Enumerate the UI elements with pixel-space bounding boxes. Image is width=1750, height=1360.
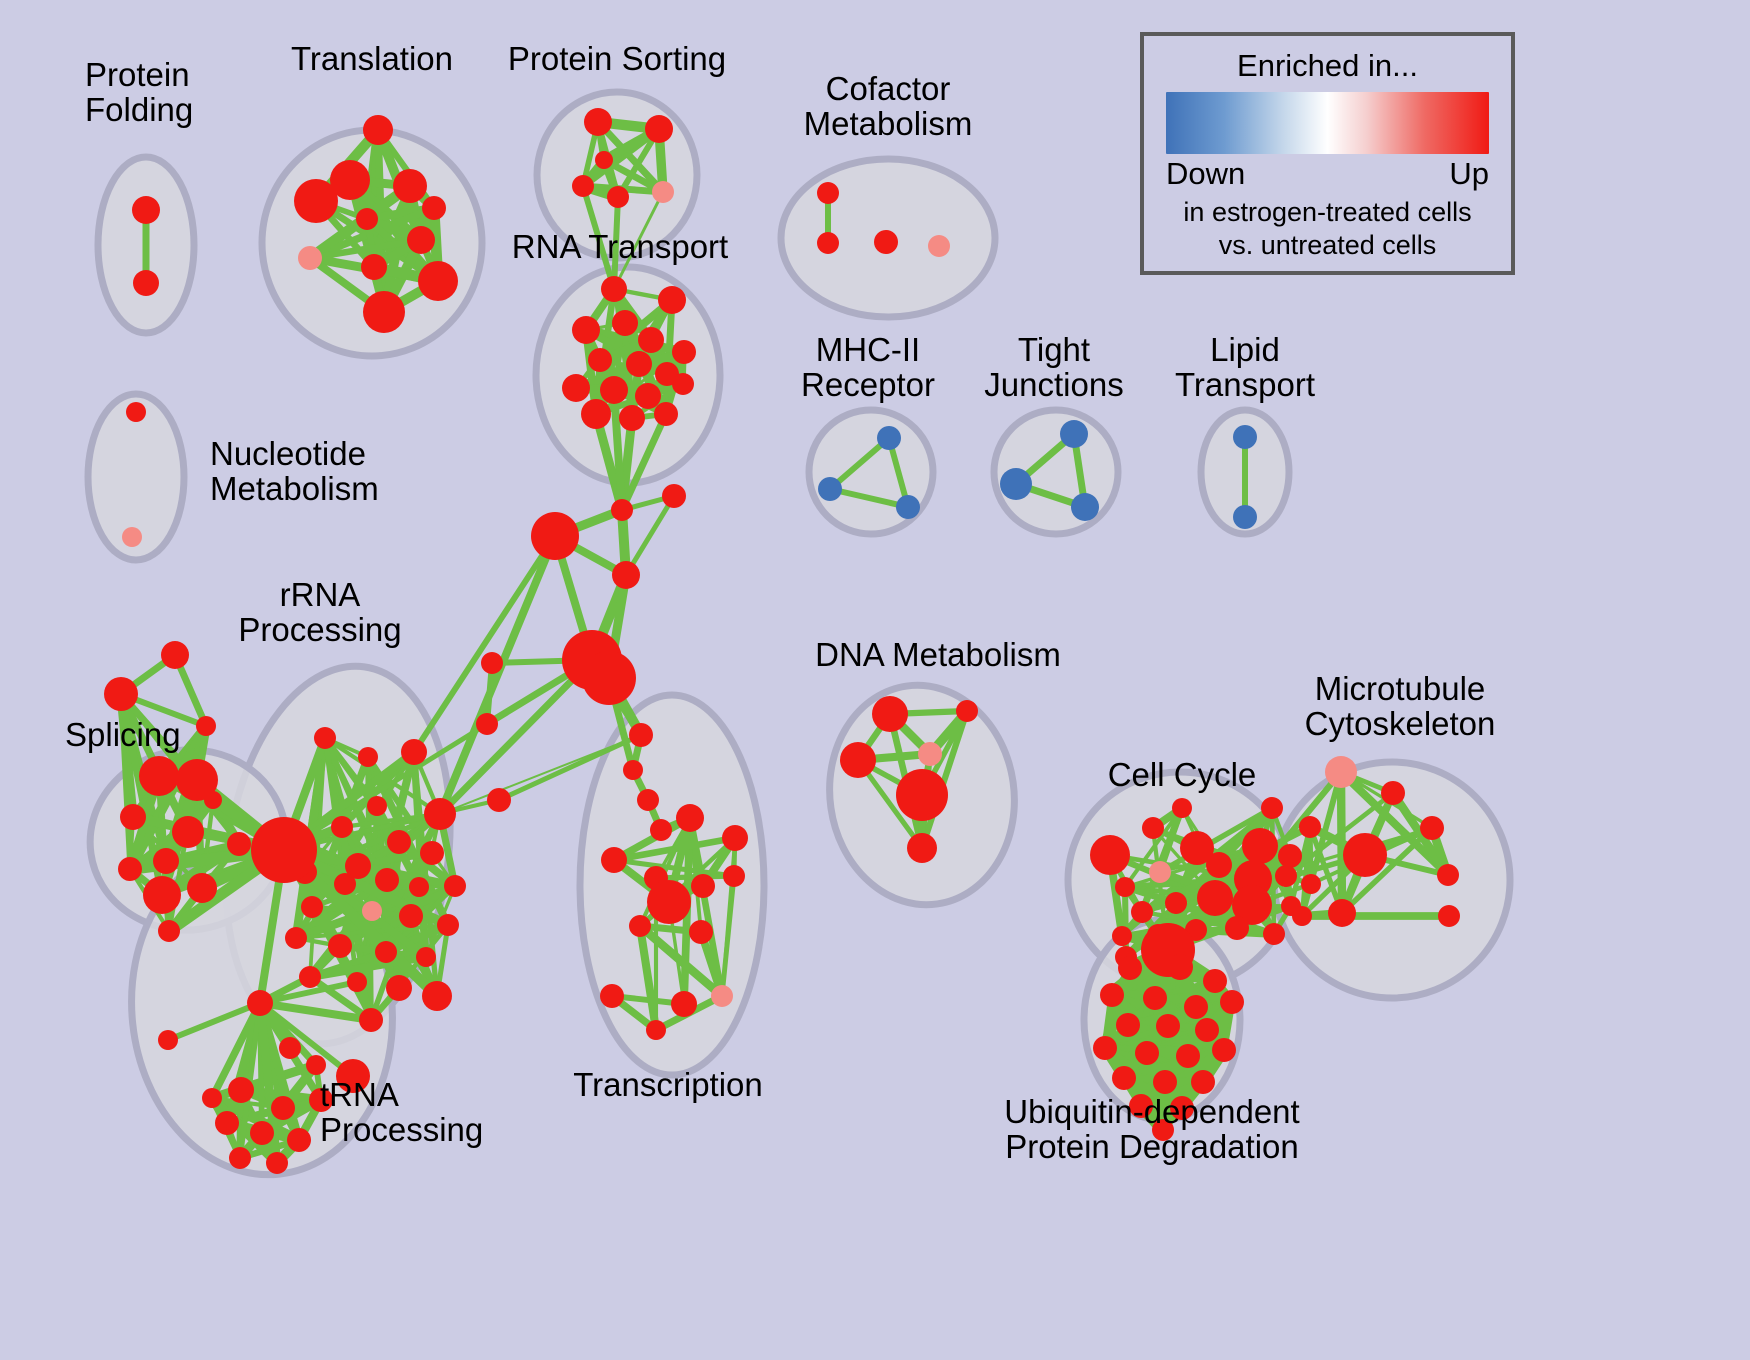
network-node[interactable]: [418, 261, 458, 301]
network-node[interactable]: [1343, 833, 1387, 877]
network-node[interactable]: [629, 915, 651, 937]
network-node[interactable]: [306, 1055, 326, 1075]
network-node[interactable]: [358, 747, 378, 767]
network-node[interactable]: [487, 788, 511, 812]
network-node[interactable]: [266, 1152, 288, 1174]
network-node[interactable]: [817, 232, 839, 254]
network-node[interactable]: [424, 798, 456, 830]
network-node[interactable]: [1149, 861, 1171, 883]
network-node[interactable]: [298, 246, 322, 270]
legend-box: Enriched in... Down Up in estrogen-treat…: [1140, 32, 1515, 275]
network-node[interactable]: [1191, 1070, 1215, 1094]
network-node[interactable]: [1167, 954, 1193, 980]
network-node[interactable]: [1118, 956, 1142, 980]
network-node[interactable]: [1242, 828, 1278, 864]
network-node[interactable]: [874, 230, 898, 254]
network-figure: Protein FoldingTranslationProtein Sortin…: [0, 0, 1750, 1360]
network-node[interactable]: [1093, 1036, 1117, 1060]
network-node[interactable]: [817, 182, 839, 204]
network-node[interactable]: [582, 651, 636, 705]
network-node[interactable]: [328, 934, 352, 958]
network-node[interactable]: [572, 175, 594, 197]
network-node[interactable]: [1278, 844, 1302, 868]
cluster-label-rna-transport: RNA Transport: [512, 230, 728, 265]
network-node[interactable]: [139, 756, 179, 796]
network-node[interactable]: [711, 985, 733, 1007]
network-node[interactable]: [1261, 797, 1283, 819]
network-node[interactable]: [334, 873, 356, 895]
network-node[interactable]: [1195, 1018, 1219, 1042]
network-node[interactable]: [1176, 1044, 1200, 1068]
network-node[interactable]: [407, 226, 435, 254]
network-node[interactable]: [196, 716, 216, 736]
network-node[interactable]: [356, 208, 378, 230]
legend-caption-line2: vs. untreated cells: [1166, 229, 1489, 262]
network-node[interactable]: [362, 901, 382, 921]
network-node[interactable]: [215, 1111, 239, 1135]
network-node[interactable]: [722, 825, 748, 851]
network-node[interactable]: [204, 791, 222, 809]
network-node[interactable]: [637, 789, 659, 811]
network-node[interactable]: [294, 179, 338, 223]
network-node[interactable]: [531, 512, 579, 560]
network-node[interactable]: [187, 873, 217, 903]
network-node[interactable]: [572, 316, 600, 344]
network-node[interactable]: [422, 981, 452, 1011]
network-node[interactable]: [612, 561, 640, 589]
network-node[interactable]: [623, 760, 643, 780]
cluster-label-trna-processing: tRNA Processing: [320, 1078, 483, 1148]
network-node[interactable]: [1115, 877, 1135, 897]
network-node[interactable]: [279, 1037, 301, 1059]
network-node[interactable]: [1172, 798, 1192, 818]
network-node[interactable]: [158, 1030, 178, 1050]
network-node[interactable]: [601, 276, 627, 302]
network-node[interactable]: [1325, 756, 1357, 788]
network-node[interactable]: [647, 880, 691, 924]
cluster-label-nucleotide-metabolism: Nucleotide Metabolism: [210, 437, 379, 507]
network-node[interactable]: [1328, 899, 1356, 927]
network-node[interactable]: [671, 991, 697, 1017]
network-node[interactable]: [1135, 1041, 1159, 1065]
network-node[interactable]: [907, 833, 937, 863]
network-node[interactable]: [1275, 865, 1297, 887]
network-node[interactable]: [118, 857, 142, 881]
network-node[interactable]: [1212, 1038, 1236, 1062]
network-node[interactable]: [399, 904, 423, 928]
cluster-label-translation: Translation: [291, 42, 453, 77]
network-node[interactable]: [301, 896, 323, 918]
network-node[interactable]: [481, 652, 503, 674]
network-node[interactable]: [1381, 781, 1405, 805]
network-node[interactable]: [662, 484, 686, 508]
network-node[interactable]: [420, 841, 444, 865]
network-node[interactable]: [612, 310, 638, 336]
cluster-label-microtubule-cytoskeleton: Microtubule Cytoskeleton: [1305, 672, 1496, 742]
network-node[interactable]: [271, 1096, 295, 1120]
network-node[interactable]: [1233, 425, 1257, 449]
network-node[interactable]: [689, 920, 713, 944]
network-node[interactable]: [314, 727, 336, 749]
network-node[interactable]: [250, 1121, 274, 1145]
network-node[interactable]: [1203, 969, 1227, 993]
network-node[interactable]: [676, 804, 704, 832]
network-node[interactable]: [581, 399, 611, 429]
network-node[interactable]: [247, 990, 273, 1016]
cluster-label-ubiquitin-protein-degradation: Ubiquitin-dependent Protein Degradation: [1004, 1095, 1299, 1165]
network-node[interactable]: [672, 373, 694, 395]
legend-up-label: Up: [1449, 156, 1489, 192]
cluster-label-dna-metabolism: DNA Metabolism: [815, 638, 1061, 673]
network-node[interactable]: [172, 816, 204, 848]
network-node[interactable]: [562, 374, 590, 402]
network-node[interactable]: [638, 327, 664, 353]
network-node[interactable]: [1299, 816, 1321, 838]
network-node[interactable]: [818, 477, 842, 501]
network-node[interactable]: [654, 402, 678, 426]
network-node[interactable]: [1142, 817, 1164, 839]
cluster-label-lipid-transport: Lipid Transport: [1175, 333, 1315, 403]
network-node[interactable]: [361, 254, 387, 280]
network-node[interactable]: [652, 181, 674, 203]
network-node[interactable]: [367, 796, 387, 816]
network-node[interactable]: [375, 941, 397, 963]
network-node[interactable]: [393, 169, 427, 203]
network-node[interactable]: [229, 1147, 251, 1169]
network-node[interactable]: [122, 527, 142, 547]
network-node[interactable]: [1220, 990, 1244, 1014]
network-node[interactable]: [1437, 864, 1459, 886]
network-node[interactable]: [375, 868, 399, 892]
network-node[interactable]: [723, 865, 745, 887]
network-node[interactable]: [444, 875, 466, 897]
cluster-label-mhc-ii-receptor: MHC-II Receptor: [801, 333, 935, 403]
network-node[interactable]: [619, 405, 645, 431]
network-node[interactable]: [877, 426, 901, 450]
cluster-label-protein-folding: Protein Folding: [85, 58, 193, 128]
network-node[interactable]: [401, 739, 427, 765]
network-node[interactable]: [896, 769, 948, 821]
cluster-label-rrna-processing: rRNA Processing: [238, 578, 401, 648]
network-node[interactable]: [1060, 420, 1088, 448]
network-node[interactable]: [386, 975, 412, 1001]
network-node[interactable]: [691, 874, 715, 898]
network-node[interactable]: [1153, 1070, 1177, 1094]
network-node[interactable]: [251, 817, 317, 883]
network-node[interactable]: [1100, 983, 1124, 1007]
network-node[interactable]: [1263, 923, 1285, 945]
network-node[interactable]: [347, 972, 367, 992]
network-node[interactable]: [359, 1008, 383, 1032]
network-node[interactable]: [285, 927, 307, 949]
network-node[interactable]: [228, 1077, 254, 1103]
network-node[interactable]: [287, 1128, 311, 1152]
network-node[interactable]: [422, 196, 446, 220]
network-node[interactable]: [1165, 892, 1187, 914]
network-node[interactable]: [629, 723, 653, 747]
network-node[interactable]: [153, 848, 179, 874]
cluster-label-transcription: Transcription: [573, 1068, 763, 1103]
network-node[interactable]: [126, 402, 146, 422]
legend-down-label: Down: [1166, 156, 1245, 192]
legend-title: Enriched in...: [1166, 48, 1489, 84]
network-node[interactable]: [1184, 995, 1208, 1019]
network-node[interactable]: [1090, 835, 1130, 875]
network-node[interactable]: [437, 914, 459, 936]
network-node[interactable]: [161, 641, 189, 669]
network-node[interactable]: [1000, 468, 1032, 500]
network-node[interactable]: [143, 876, 181, 914]
network-node[interactable]: [650, 819, 672, 841]
network-node[interactable]: [918, 742, 942, 766]
network-node[interactable]: [1233, 505, 1257, 529]
network-node[interactable]: [1116, 1013, 1140, 1037]
network-node[interactable]: [227, 832, 251, 856]
network-node[interactable]: [588, 348, 612, 372]
network-node[interactable]: [363, 115, 393, 145]
network-node[interactable]: [626, 351, 652, 377]
network-node[interactable]: [1143, 986, 1167, 1010]
network-node[interactable]: [928, 235, 950, 257]
legend-color-gradient: [1166, 92, 1489, 154]
network-node[interactable]: [600, 984, 624, 1008]
network-node[interactable]: [299, 966, 321, 988]
network-node[interactable]: [584, 108, 612, 136]
network-node[interactable]: [635, 383, 661, 409]
network-node[interactable]: [416, 947, 436, 967]
network-node[interactable]: [158, 920, 180, 942]
network-node[interactable]: [872, 696, 908, 732]
network-node[interactable]: [1206, 852, 1232, 878]
network-node[interactable]: [133, 270, 159, 296]
network-node[interactable]: [1225, 916, 1249, 940]
network-node[interactable]: [1420, 816, 1444, 840]
cluster-label-protein-sorting: Protein Sorting: [508, 42, 726, 77]
network-node[interactable]: [1292, 906, 1312, 926]
network-node[interactable]: [1071, 493, 1099, 521]
cluster-label-cofactor-metabolism: Cofactor Metabolism: [804, 72, 973, 142]
network-node[interactable]: [611, 499, 633, 521]
network-node[interactable]: [363, 291, 405, 333]
network-node[interactable]: [202, 1088, 222, 1108]
network-node[interactable]: [387, 830, 411, 854]
network-node[interactable]: [1156, 1014, 1180, 1038]
network-node[interactable]: [331, 816, 353, 838]
network-node[interactable]: [1197, 880, 1233, 916]
cluster-label-splicing: Splicing: [65, 718, 181, 753]
network-node[interactable]: [1112, 926, 1132, 946]
edge: [440, 536, 555, 814]
network-node[interactable]: [595, 151, 613, 169]
network-node[interactable]: [132, 196, 160, 224]
network-node[interactable]: [1301, 874, 1321, 894]
network-node[interactable]: [1438, 905, 1460, 927]
network-node[interactable]: [409, 877, 429, 897]
network-node[interactable]: [645, 115, 673, 143]
network-node[interactable]: [840, 742, 876, 778]
network-node[interactable]: [672, 340, 696, 364]
cluster-label-cell-cycle: Cell Cycle: [1108, 758, 1257, 793]
network-node[interactable]: [896, 495, 920, 519]
network-node[interactable]: [607, 186, 629, 208]
network-node[interactable]: [476, 713, 498, 735]
network-node[interactable]: [600, 376, 628, 404]
network-node[interactable]: [646, 1020, 666, 1040]
network-node[interactable]: [120, 804, 146, 830]
network-node[interactable]: [956, 700, 978, 722]
legend-caption-line1: in estrogen-treated cells: [1166, 196, 1489, 229]
network-node[interactable]: [1112, 1066, 1136, 1090]
network-node[interactable]: [601, 847, 627, 873]
cluster-label-tight-junctions: Tight Junctions: [984, 333, 1123, 403]
network-node[interactable]: [1131, 901, 1153, 923]
network-node[interactable]: [658, 286, 686, 314]
network-node[interactable]: [104, 677, 138, 711]
